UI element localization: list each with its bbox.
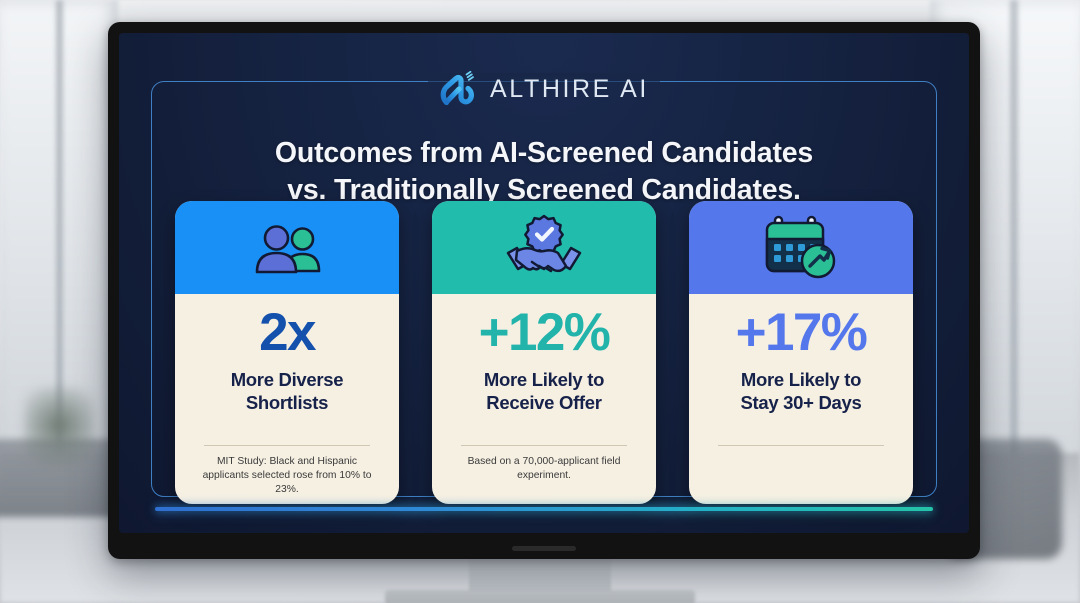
handshake-verified-icon bbox=[502, 213, 586, 283]
stat-label-line-2: Stay 30+ Days bbox=[740, 392, 861, 413]
stat-label-line-1: More Diverse bbox=[231, 369, 344, 390]
stat-value: 2x bbox=[259, 306, 315, 360]
calendar-trending-up-icon bbox=[761, 213, 841, 283]
stat-label: More Likely to Stay 30+ Days bbox=[740, 369, 861, 414]
card-caption: MIT Study: Black and Hispanic applicants… bbox=[189, 446, 385, 492]
stat-label: More Diverse Shortlists bbox=[231, 369, 344, 414]
stat-value: +17% bbox=[736, 306, 867, 360]
background-window-mullion-right bbox=[1010, 0, 1018, 470]
page-title: Outcomes from AI-Screened Candidates vs.… bbox=[119, 135, 969, 209]
card-caption: Based on a 70,000-applicant field experi… bbox=[446, 446, 642, 492]
headline-line-1: Outcomes from AI-Screened Candidates bbox=[119, 135, 969, 172]
card-header-2 bbox=[432, 201, 656, 294]
two-people-icon bbox=[248, 219, 326, 277]
caption-line-1: MIT Study: Black and Hispanic bbox=[217, 456, 357, 467]
infographic-slide: ALTHIRE AI Outcomes from AI-Screened Can… bbox=[119, 33, 969, 533]
stat-label-line-2: Shortlists bbox=[246, 392, 328, 413]
caption-line-2: applicants selected rose from 10% to 23%… bbox=[203, 470, 372, 495]
card-header-3 bbox=[689, 201, 913, 294]
stat-label-line-2: Receive Offer bbox=[486, 392, 601, 413]
stat-label: More Likely to Receive Offer bbox=[484, 369, 604, 414]
stat-label-line-1: More Likely to bbox=[741, 369, 861, 390]
card-caption bbox=[791, 446, 811, 492]
card-body-2: +12% More Likely to Receive Offer Based … bbox=[432, 294, 656, 504]
brand-logo-row: ALTHIRE AI bbox=[119, 69, 969, 109]
stat-card-list: 2x More Diverse Shortlists MIT Study: Bl… bbox=[165, 201, 923, 504]
monitor-logo-notch bbox=[512, 546, 576, 551]
card-body-1: 2x More Diverse Shortlists MIT Study: Bl… bbox=[175, 294, 399, 504]
bottom-accent-bar bbox=[155, 507, 933, 511]
althire-a-monogram-icon bbox=[439, 70, 479, 108]
stat-card-stay-30-days[interactable]: +17% More Likely to Stay 30+ Days bbox=[689, 201, 913, 504]
monitor-stand-neck bbox=[469, 556, 611, 594]
background-plant bbox=[24, 387, 94, 483]
monitor-bezel: ALTHIRE AI Outcomes from AI-Screened Can… bbox=[108, 22, 980, 559]
stat-card-receive-offer[interactable]: +12% More Likely to Receive Offer Based … bbox=[432, 201, 656, 504]
stat-label-line-1: More Likely to bbox=[484, 369, 604, 390]
monitor-stand-base bbox=[385, 590, 695, 603]
stat-value: +12% bbox=[479, 306, 610, 360]
card-header-1 bbox=[175, 201, 399, 294]
stat-card-diverse-shortlists[interactable]: 2x More Diverse Shortlists MIT Study: Bl… bbox=[175, 201, 399, 504]
caption-line-1: Based on a 70,000-applicant bbox=[468, 456, 599, 467]
card-body-3: +17% More Likely to Stay 30+ Days bbox=[689, 294, 913, 504]
brand-name: ALTHIRE AI bbox=[490, 77, 649, 102]
